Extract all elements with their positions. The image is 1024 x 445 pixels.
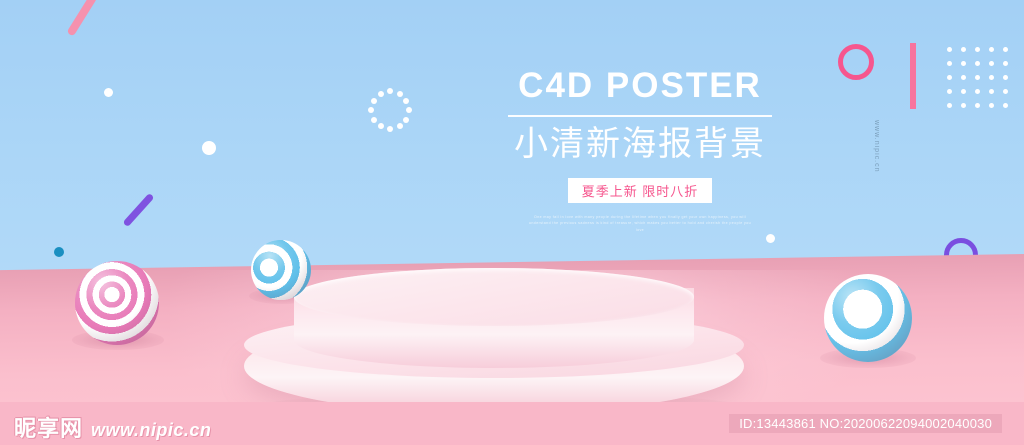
grid-dot bbox=[961, 89, 966, 94]
sphere-shading bbox=[824, 274, 912, 362]
dotted-circle-dot bbox=[378, 91, 384, 97]
white-dot-grid-icon bbox=[942, 42, 1012, 112]
site-logo-url: www.nipic.cn bbox=[91, 420, 211, 441]
grid-dot bbox=[1003, 75, 1008, 80]
grid-dot bbox=[947, 47, 952, 52]
footer-watermark-bar: 昵享网 www.nipic.cn ID:13443861 NO:20200622… bbox=[0, 402, 1024, 445]
image-id-label: ID:13443861 NO:20200622094002040030 bbox=[729, 414, 1002, 433]
pink-striped-sphere bbox=[75, 261, 159, 345]
poster-blurb-text: One may fall in love with many people du… bbox=[525, 214, 755, 234]
grid-dot bbox=[947, 89, 952, 94]
sphere-shading bbox=[75, 261, 159, 345]
site-logo-chinese: 昵享网 bbox=[14, 411, 83, 443]
sphere-shading bbox=[251, 240, 311, 300]
dotted-circle-dot bbox=[403, 117, 409, 123]
grid-dot bbox=[961, 103, 966, 108]
grid-dot bbox=[1003, 47, 1008, 52]
dotted-circle-dot bbox=[397, 91, 403, 97]
dotted-circle-dot bbox=[387, 126, 393, 132]
white-dot-icon bbox=[104, 88, 113, 97]
grid-dot bbox=[1003, 61, 1008, 66]
blue-striped-sphere-small bbox=[251, 240, 311, 300]
pink-vertical-bar-icon bbox=[910, 43, 916, 109]
dotted-circle-dot bbox=[368, 107, 374, 113]
teal-dot-icon bbox=[54, 247, 64, 257]
poster-title-english: C4D POSTER bbox=[460, 68, 820, 103]
grid-dot bbox=[1003, 89, 1008, 94]
site-logo: 昵享网 www.nipic.cn bbox=[14, 411, 211, 443]
dotted-circle-dot bbox=[406, 107, 412, 113]
grid-dot bbox=[989, 75, 994, 80]
dotted-circle-dot bbox=[371, 98, 377, 104]
dotted-circle-dot bbox=[378, 123, 384, 129]
grid-dot bbox=[975, 61, 980, 66]
title-divider-rule bbox=[508, 115, 772, 117]
dotted-circle-dot bbox=[387, 88, 393, 94]
headline-block: C4D POSTER 小清新海报背景 夏季上新 限时八折 One may fal… bbox=[460, 68, 820, 234]
white-dot-icon bbox=[766, 234, 775, 243]
grid-dot bbox=[961, 75, 966, 80]
pink-ring-icon bbox=[838, 44, 874, 80]
grid-dot bbox=[989, 89, 994, 94]
podium-upper-face bbox=[294, 268, 694, 326]
grid-dot bbox=[975, 75, 980, 80]
side-watermark-url: www.nipic.cn bbox=[873, 120, 880, 180]
grid-dot bbox=[947, 61, 952, 66]
grid-dot bbox=[975, 103, 980, 108]
grid-dot bbox=[989, 61, 994, 66]
grid-dot bbox=[961, 61, 966, 66]
grid-dot bbox=[975, 89, 980, 94]
dotted-circle-dot bbox=[403, 98, 409, 104]
grid-dot bbox=[947, 75, 952, 80]
blue-striped-sphere-large bbox=[824, 274, 912, 362]
promo-badge: 夏季上新 限时八折 bbox=[568, 178, 713, 203]
poster-canvas: C4D POSTER 小清新海报背景 夏季上新 限时八折 One may fal… bbox=[0, 0, 1024, 445]
grid-dot bbox=[989, 47, 994, 52]
dotted-circle-icon bbox=[368, 88, 412, 132]
grid-dot bbox=[1003, 103, 1008, 108]
grid-dot bbox=[947, 103, 952, 108]
poster-title-chinese: 小清新海报背景 bbox=[460, 123, 820, 166]
white-dot-icon bbox=[202, 141, 216, 155]
grid-dot bbox=[961, 47, 966, 52]
grid-dot bbox=[975, 47, 980, 52]
grid-dot bbox=[989, 103, 994, 108]
dotted-circle-dot bbox=[371, 117, 377, 123]
dotted-circle-dot bbox=[397, 123, 403, 129]
